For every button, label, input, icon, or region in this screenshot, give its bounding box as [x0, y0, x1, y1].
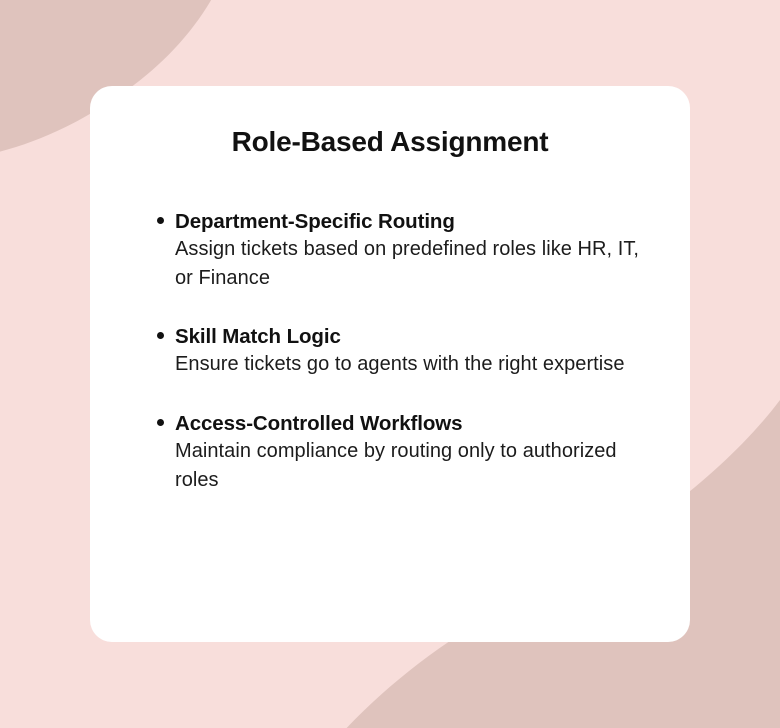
bullet-heading: Access-Controlled Workflows: [175, 410, 662, 437]
list-item: Access-Controlled Workflows Maintain com…: [157, 410, 662, 495]
bullet-dot-icon: [157, 217, 164, 224]
bullet-dot-icon: [157, 332, 164, 339]
bullet-list: Department-Specific Routing Assign ticke…: [157, 208, 662, 495]
bullet-description: Maintain compliance by routing only to a…: [175, 437, 645, 495]
bullet-dot-icon: [157, 419, 164, 426]
slide-canvas: Role-Based Assignment Department-Specifi…: [0, 0, 780, 728]
bullet-description: Assign tickets based on predefined roles…: [175, 235, 645, 293]
list-item: Department-Specific Routing Assign ticke…: [157, 208, 662, 293]
bullet-heading: Skill Match Logic: [175, 323, 662, 350]
bullet-description: Ensure tickets go to agents with the rig…: [175, 350, 645, 379]
bullet-heading: Department-Specific Routing: [175, 208, 662, 235]
content-card: Role-Based Assignment Department-Specifi…: [90, 86, 690, 642]
list-item: Skill Match Logic Ensure tickets go to a…: [157, 323, 662, 379]
page-title: Role-Based Assignment: [90, 125, 690, 159]
